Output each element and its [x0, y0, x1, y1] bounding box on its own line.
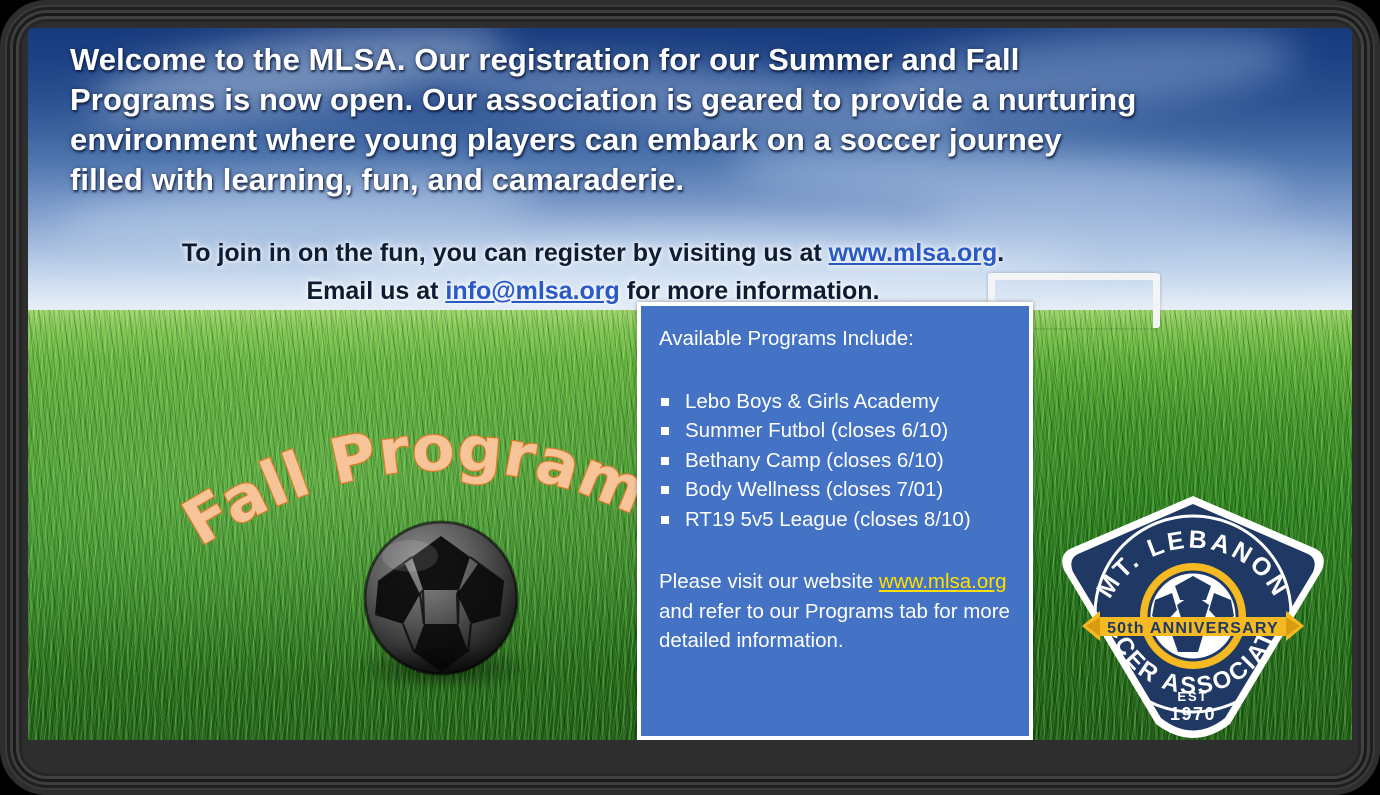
program-label: Body Wellness (closes 7/01)	[685, 478, 943, 501]
square-bullet-icon	[661, 427, 669, 435]
register-line: To join in on the fun, you can register …	[88, 234, 1098, 272]
fall-programs-text: Fall Programs	[178, 426, 657, 559]
list-item: Body Wellness (closes 7/01)	[657, 475, 1013, 505]
email-link[interactable]: info@mlsa.org	[445, 277, 619, 305]
logo-ribbon-text: 50th ANNIVERSARY	[1107, 620, 1279, 637]
picture-frame: Fall Programs	[0, 0, 1380, 795]
programs-box-title: Available Programs Include:	[659, 324, 1013, 354]
contact-paragraph: To join in on the fun, you can register …	[88, 234, 1098, 310]
program-label: Summer Futbol (closes 6/10)	[685, 419, 948, 442]
square-bullet-icon	[661, 516, 669, 524]
register-text-before: To join in on the fun, you can register …	[182, 239, 829, 267]
available-programs-box: Available Programs Include: Lebo Boys & …	[637, 302, 1033, 740]
logo-est-label: EST	[1177, 689, 1208, 704]
square-bullet-icon	[661, 486, 669, 494]
svg-text:Fall Programs: Fall Programs	[178, 426, 657, 559]
ball-shadow	[350, 646, 536, 690]
email-text-after: for more information.	[620, 277, 880, 305]
footer-text-before: Please visit our website	[659, 570, 879, 593]
fall-programs-wordart: Fall Programs	[178, 426, 658, 561]
program-label: RT19 5v5 League (closes 8/10)	[685, 508, 971, 531]
logo-est-year: 1970	[1170, 704, 1216, 724]
footer-text-after: and refer to our Programs tab for more d…	[659, 600, 1010, 653]
programs-box-footer: Please visit our website www.mlsa.org an…	[659, 567, 1013, 656]
program-label: Bethany Camp (closes 6/10)	[685, 449, 944, 472]
program-label: Lebo Boys & Girls Academy	[685, 390, 939, 413]
page-title: Welcome to the MLSA. Our registration fo…	[70, 40, 1140, 200]
list-item: Summer Futbol (closes 6/10)	[657, 416, 1013, 446]
square-bullet-icon	[661, 457, 669, 465]
mlsa-logo: MT. LEBANON SOCCER ASSOCIATION	[1048, 494, 1338, 740]
list-item: Lebo Boys & Girls Academy	[657, 387, 1013, 417]
programs-list: Lebo Boys & Girls Academy Summer Futbol …	[657, 387, 1013, 535]
list-item: Bethany Camp (closes 6/10)	[657, 446, 1013, 476]
list-item: RT19 5v5 League (closes 8/10)	[657, 505, 1013, 535]
slide-canvas: Fall Programs	[28, 28, 1352, 740]
footer-website-link[interactable]: www.mlsa.org	[879, 570, 1007, 593]
register-text-after: .	[997, 239, 1004, 267]
website-link[interactable]: www.mlsa.org	[829, 239, 998, 267]
email-text-before: Email us at	[306, 277, 445, 305]
square-bullet-icon	[661, 398, 669, 406]
